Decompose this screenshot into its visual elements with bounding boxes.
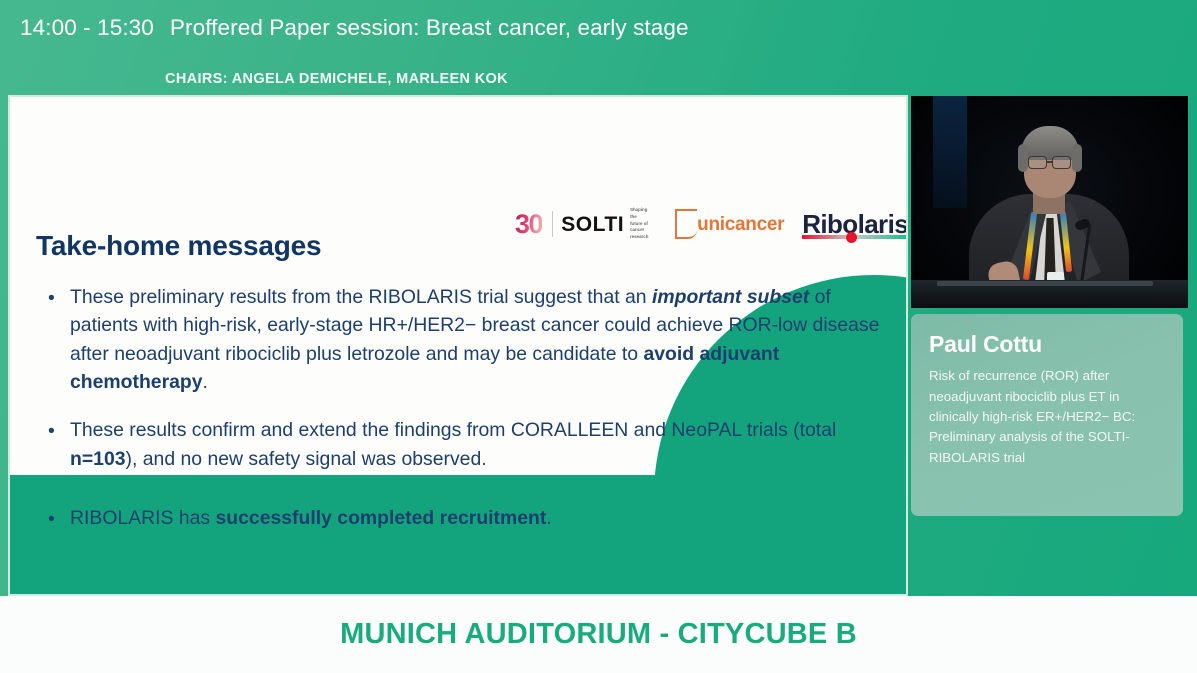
session-header-line: 14:00 - 15:30Proffered Paper session: Br… xyxy=(20,15,689,41)
session-chairs: CHAIRS: ANGELA DEMICHELE, MARLEEN KOK xyxy=(165,71,508,87)
speaker-talk-title: Risk of recurrence (ROR) after neoadjuva… xyxy=(929,366,1167,468)
unicancer-logo: unicancer xyxy=(675,209,784,239)
solti-tagline: Shaping the future of cancer research xyxy=(630,207,649,240)
session-header: 14:00 - 15:30Proffered Paper session: Br… xyxy=(0,0,1197,95)
venue-name: MUNICH AUDITORIUM - CITYCUBE B xyxy=(340,618,857,651)
unicancer-label: unicancer xyxy=(697,215,784,234)
speaker-glasses-bridge xyxy=(1047,161,1052,163)
unicancer-bracket-icon xyxy=(675,209,697,239)
session-title: Proffered Paper session: Breast cancer, … xyxy=(170,15,689,40)
slide-logo-row: 30 SOLTI Shaping the future of cancer re… xyxy=(515,203,908,245)
bullet-text-1: These preliminary results from the RIBOL… xyxy=(70,283,886,396)
speaker-video-feed[interactable] xyxy=(911,96,1188,308)
solti-30-anniversary-logo: 30 xyxy=(515,211,542,238)
bullet-marker-icon: • xyxy=(48,283,70,396)
venue-footer: MUNICH AUDITORIUM - CITYCUBE B xyxy=(0,596,1197,673)
bullet-text-3: RIBOLARIS has successfully completed rec… xyxy=(70,504,886,533)
podium-edge xyxy=(937,281,1153,286)
speaker-info-panel: Paul Cottu Risk of recurrence (ROR) afte… xyxy=(911,314,1183,516)
list-item: • These results confirm and extend the f… xyxy=(48,416,886,473)
solti-logo: SOLTI xyxy=(561,214,624,235)
bullet-marker-icon: • xyxy=(48,416,70,473)
ribolaris-logo: Ribolaris xyxy=(802,211,908,238)
list-item: • These preliminary results from the RIB… xyxy=(48,283,886,396)
presentation-slide[interactable]: 30 SOLTI Shaping the future of cancer re… xyxy=(8,95,908,596)
speaker-hair-side-right xyxy=(1072,144,1082,172)
speaker-glasses-left-lens xyxy=(1028,156,1047,169)
bullet-marker-icon: • xyxy=(48,504,70,533)
speaker-name: Paul Cottu xyxy=(929,332,1167,357)
slide-bullet-list: • These preliminary results from the RIB… xyxy=(48,283,886,533)
speaker-hair-side-left xyxy=(1018,144,1028,172)
bullet-text-2: These results confirm and extend the fin… xyxy=(70,416,886,473)
video-blue-light xyxy=(933,96,967,208)
ribolaris-red-dot-icon xyxy=(846,232,857,243)
session-time: 14:00 - 15:30 xyxy=(20,15,154,40)
list-item: • RIBOLARIS has successfully completed r… xyxy=(48,504,886,533)
slide-title: Take-home messages xyxy=(36,230,321,262)
speaker-glasses-right-lens xyxy=(1052,156,1071,169)
